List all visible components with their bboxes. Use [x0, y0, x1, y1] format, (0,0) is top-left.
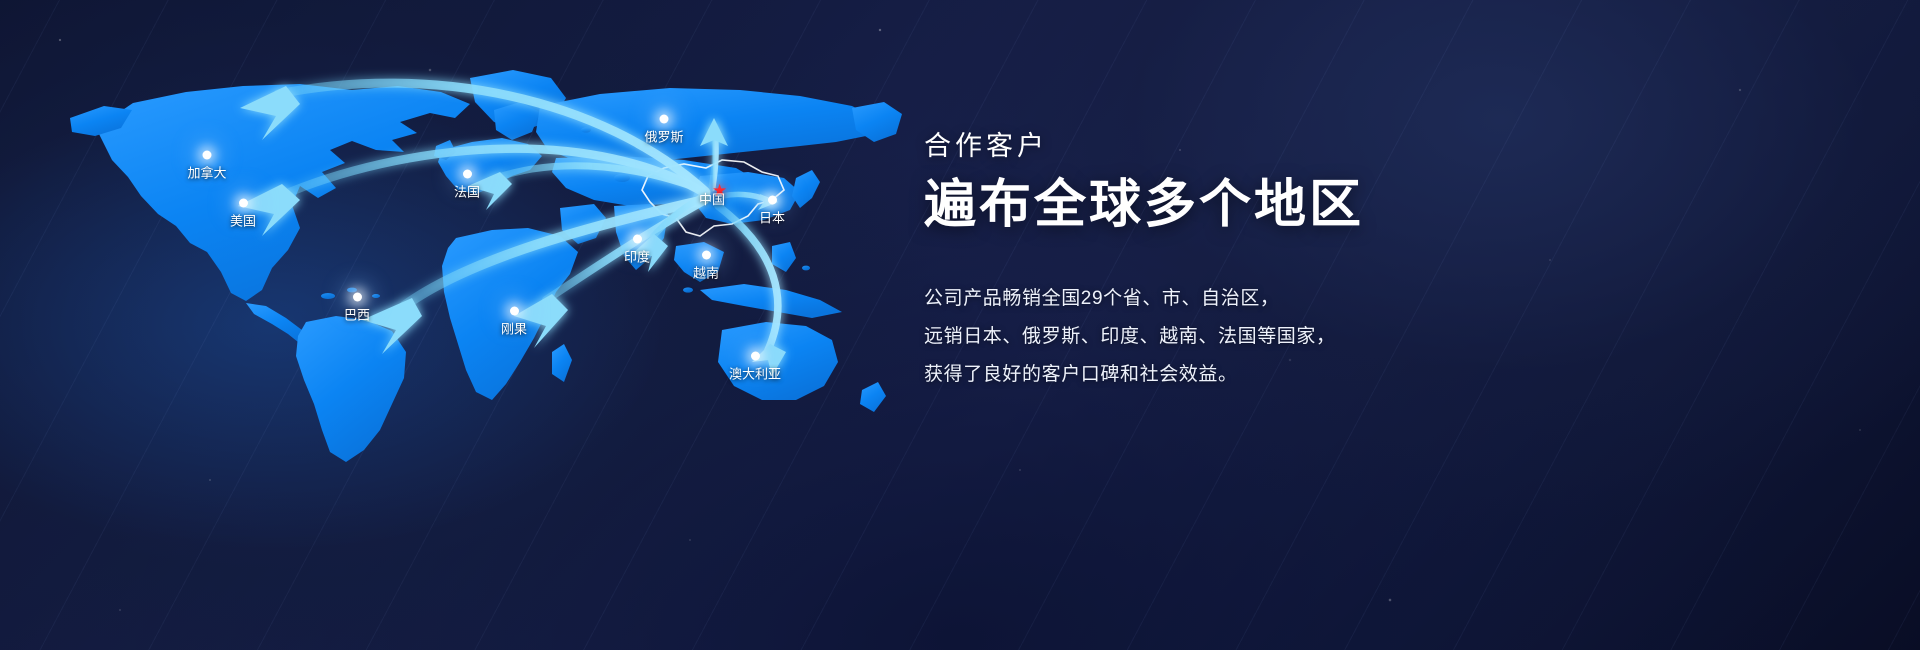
marker-usa[interactable]: 美国: [230, 199, 256, 228]
indonesia: [700, 284, 842, 318]
marker-label-congo: 刚果: [501, 323, 527, 336]
marker-dot-icon: [701, 251, 710, 260]
marker-vietnam[interactable]: 越南: [693, 251, 719, 280]
marker-dot-icon: [238, 199, 247, 208]
marker-label-france: 法国: [454, 186, 480, 199]
japan: [792, 170, 820, 208]
marker-russia[interactable]: 俄罗斯: [644, 115, 683, 144]
marker-australia[interactable]: 澳大利亚: [729, 352, 781, 381]
marker-label-china: 中国: [699, 193, 725, 206]
world-map-banner: ★ 中国 加拿大 美国 巴西 俄罗斯 法国 刚果 印度: [0, 0, 1920, 650]
marker-canada[interactable]: 加拿大: [187, 151, 226, 180]
marker-dot-icon: [659, 115, 668, 124]
banner-headline: 遍布全球多个地区: [924, 176, 1624, 234]
south-america: [296, 316, 406, 462]
marker-label-india: 印度: [624, 251, 650, 264]
marker-label-vietnam: 越南: [693, 267, 719, 280]
marker-label-brazil: 巴西: [344, 309, 370, 322]
philippines: [772, 242, 796, 272]
marker-dot-icon: [750, 352, 759, 361]
description-line-3: 获得了良好的客户口碑和社会效益。: [924, 356, 1624, 394]
marker-dot-icon: [352, 293, 361, 302]
description-line-1: 公司产品畅销全国29个省、市、自治区，: [924, 280, 1624, 318]
marker-dot-icon: [632, 235, 641, 244]
marker-label-japan: 日本: [759, 212, 785, 225]
marker-dot-icon: [462, 170, 471, 179]
marker-france[interactable]: 法国: [454, 170, 480, 199]
new-zealand: [860, 382, 886, 412]
banner-kicker: 合作客户: [924, 132, 1624, 162]
marker-label-russia: 俄罗斯: [644, 131, 683, 144]
marker-congo[interactable]: 刚果: [501, 307, 527, 336]
banner-copy: 合作客户 遍布全球多个地区 公司产品畅销全国29个省、市、自治区， 远销日本、俄…: [924, 132, 1624, 394]
marker-china[interactable]: ★ 中国: [699, 186, 725, 206]
marker-brazil[interactable]: 巴西: [344, 293, 370, 322]
marker-label-canada: 加拿大: [187, 167, 226, 180]
marker-label-usa: 美国: [230, 215, 256, 228]
marker-japan[interactable]: 日本: [759, 196, 785, 225]
marker-india[interactable]: 印度: [624, 235, 650, 264]
marker-dot-icon: [767, 196, 776, 205]
madagascar: [552, 344, 572, 382]
marker-dot-icon: [202, 151, 211, 160]
banner-description: 公司产品畅销全国29个省、市、自治区， 远销日本、俄罗斯、印度、越南、法国等国家…: [924, 280, 1624, 394]
marker-label-australia: 澳大利亚: [729, 368, 781, 381]
description-line-2: 远销日本、俄罗斯、印度、越南、法国等国家，: [924, 318, 1624, 356]
marker-dot-icon: [509, 307, 518, 316]
